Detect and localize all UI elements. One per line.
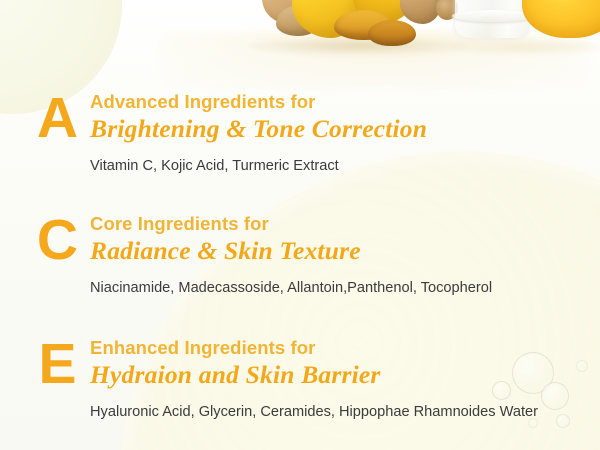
section-headline-line1: Advanced Ingredients for [90,90,600,113]
section-headline-line1: Core Ingredients for [90,212,600,235]
section-headline-line1: Enhanced Ingredients for [90,336,600,359]
ingredient-section-e: E Enhanced Ingredients for Hydraion and … [0,334,600,422]
section-letter-a: A [0,88,86,148]
section-letter-c: C [0,210,86,270]
section-headline-line2: Hydraion and Skin Barrier [90,360,600,389]
section-headline-line2: Brightening & Tone Correction [90,114,600,143]
ingredient-infographic-poster: A Advanced Ingredients for Brightening &… [0,0,600,450]
ingredient-section-a: A Advanced Ingredients for Brightening &… [0,88,600,176]
section-headline-line2: Radiance & Skin Texture [90,236,600,265]
section-text-c: Core Ingredients for Radiance & Skin Tex… [86,210,600,298]
section-ingredient-list: Vitamin C, Kojic Acid, Turmeric Extract [90,156,600,176]
section-text-a: Advanced Ingredients for Brightening & T… [86,88,600,176]
ingredient-section-c: C Core Ingredients for Radiance & Skin T… [0,210,600,298]
section-text-e: Enhanced Ingredients for Hydraion and Sk… [86,334,600,422]
content-area: A Advanced Ingredients for Brightening &… [0,0,600,450]
section-ingredient-list: Hyaluronic Acid, Glycerin, Ceramides, Hi… [90,402,600,422]
section-ingredient-list: Niacinamide, Madecassoside, Allantoin,Pa… [90,278,600,298]
section-letter-e: E [0,334,86,394]
